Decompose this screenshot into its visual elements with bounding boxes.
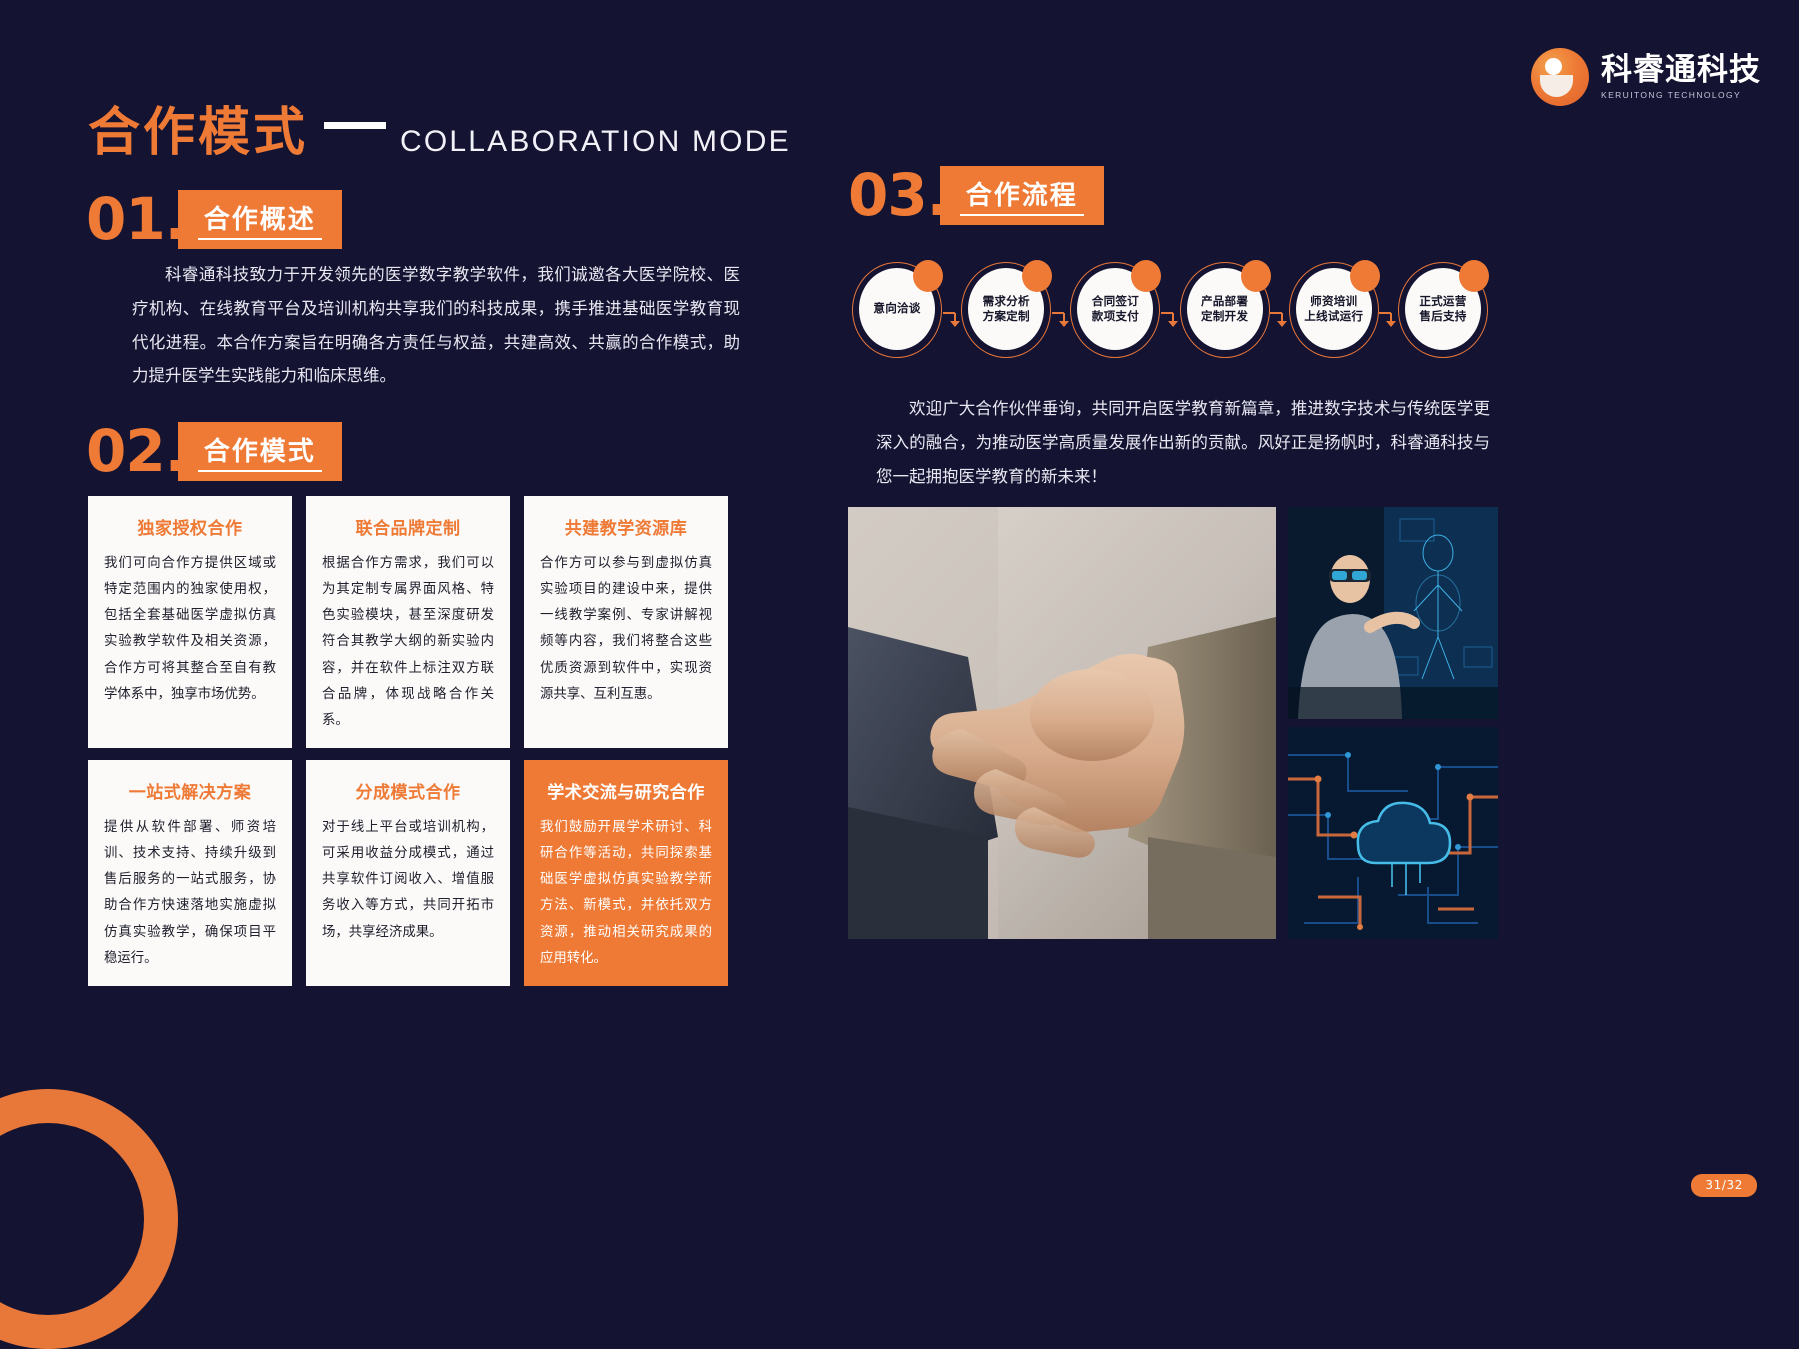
- ar-medical-photo: [1288, 507, 1498, 719]
- mode-card-body: 对于线上平台或培训机构，可采用收益分成模式，通过共享软件订阅收入、增值服务收入等…: [322, 815, 494, 946]
- brand-logo: 科睿通科技 KERUITONG TECHNOLOGY: [1531, 48, 1761, 106]
- mode-card: 分成模式合作对于线上平台或培训机构，可采用收益分成模式，通过共享软件订阅收入、增…: [306, 760, 510, 986]
- mode-card-body: 我们可向合作方提供区域或特定范围内的独家使用权，包括全套基础医学虚拟仿真实验教学…: [104, 551, 276, 708]
- mode-card-body: 根据合作方需求，我们可以为其定制专属界面风格、特色实验模块，甚至深度研发符合其教…: [322, 551, 494, 734]
- page-number-badge: 31/32: [1691, 1174, 1757, 1197]
- section-heading-01: 01. 合作概述: [86, 190, 342, 249]
- flow-step: 师资培训上线试运行: [1287, 258, 1381, 362]
- keruitong-logo-icon: [1531, 48, 1589, 106]
- intro-paragraph: 科睿通科技致力于开发领先的医学数字教学软件，我们诚邀各大医学院校、医疗机构、在线…: [132, 258, 740, 393]
- flow-step: 意向洽谈: [850, 258, 944, 362]
- section-heading-02: 02. 合作模式: [86, 422, 342, 481]
- mode-card-title: 学术交流与研究合作: [540, 778, 712, 803]
- collaboration-flow-diagram: 意向洽谈需求分析方案定制合同签订款项支付产品部署定制开发师资培训上线试运行正式运…: [850, 255, 1490, 365]
- decorative-corner-arc: [0, 1089, 178, 1349]
- title-divider-dash: [324, 122, 386, 129]
- flow-step-label-2: 售后支持: [1419, 309, 1466, 324]
- page-title-en: COLLABORATION MODE: [400, 127, 791, 159]
- flow-step-dot: [1350, 260, 1380, 292]
- section-number-01: 01.: [86, 193, 186, 246]
- section-number-03: 03.: [848, 169, 948, 222]
- mode-card-title: 独家授权合作: [104, 514, 276, 539]
- collaboration-mode-card-grid: 独家授权合作我们可向合作方提供区域或特定范围内的独家使用权，包括全套基础医学虚拟…: [88, 496, 728, 986]
- mode-card-title: 联合品牌定制: [322, 514, 494, 539]
- mode-card-body: 提供从软件部署、师资培训、技术支持、持续升级到售后服务的一站式服务，协助合作方快…: [104, 815, 276, 972]
- flow-step-dot: [1459, 260, 1489, 292]
- flow-step-label-1: 师资培训: [1310, 294, 1357, 309]
- flow-step-label-1: 合同签订: [1092, 294, 1139, 309]
- mode-card: 联合品牌定制根据合作方需求，我们可以为其定制专属界面风格、特色实验模块，甚至深度…: [306, 496, 510, 748]
- mode-card-body: 我们鼓励开展学术研讨、科研合作等活动，共同探索基础医学虚拟仿真实验教学新方法、新…: [540, 815, 712, 972]
- section-badge-03: 合作流程: [940, 166, 1104, 225]
- flow-step-label-1: 正式运营: [1419, 294, 1466, 309]
- page-title-cn: 合作模式: [88, 107, 308, 159]
- handshake-photo: [848, 507, 1276, 939]
- section-badge-02: 合作模式: [178, 422, 342, 481]
- mode-card: 学术交流与研究合作我们鼓励开展学术研讨、科研合作等活动，共同探索基础医学虚拟仿真…: [524, 760, 728, 986]
- flow-step-label-2: 定制开发: [1201, 309, 1248, 324]
- flow-step-dot: [913, 260, 943, 292]
- circuit-cloud-photo: [1288, 727, 1498, 939]
- mode-card-title: 分成模式合作: [322, 778, 494, 803]
- mode-card: 一站式解决方案提供从软件部署、师资培训、技术支持、持续升级到售后服务的一站式服务…: [88, 760, 292, 986]
- flow-step-label-1: 需求分析: [983, 294, 1030, 309]
- flow-step-label-1: 意向洽谈: [873, 301, 920, 316]
- mode-card-title: 共建教学资源库: [540, 514, 712, 539]
- page-title: 合作模式 COLLABORATION MODE: [88, 107, 791, 159]
- flow-step-dot: [1131, 260, 1161, 292]
- flow-step: 需求分析方案定制: [959, 258, 1053, 362]
- section-number-02: 02.: [86, 425, 186, 478]
- mode-card-title: 一站式解决方案: [104, 778, 276, 803]
- flow-step: 正式运营售后支持: [1396, 258, 1490, 362]
- mode-card: 共建教学资源库合作方可以参与到虚拟仿真实验项目的建设中来，提供一线教学案例、专家…: [524, 496, 728, 748]
- flow-step-label-2: 方案定制: [983, 309, 1030, 324]
- section-heading-03: 03. 合作流程: [848, 166, 1104, 225]
- flow-step-label-2: 上线试运行: [1304, 309, 1363, 324]
- brand-name-cn: 科睿通科技: [1601, 54, 1761, 87]
- flow-step-dot: [1241, 260, 1271, 292]
- flow-step-label-1: 产品部署: [1201, 294, 1248, 309]
- flow-step-label-2: 款项支付: [1092, 309, 1139, 324]
- section-badge-01: 合作概述: [178, 190, 342, 249]
- brand-name-en: KERUITONG TECHNOLOGY: [1601, 90, 1761, 100]
- flow-step: 产品部署定制开发: [1178, 258, 1272, 362]
- mode-card-body: 合作方可以参与到虚拟仿真实验项目的建设中来，提供一线教学案例、专家讲解视频等内容…: [540, 551, 712, 708]
- flow-step-dot: [1022, 260, 1052, 292]
- mode-card: 独家授权合作我们可向合作方提供区域或特定范围内的独家使用权，包括全套基础医学虚拟…: [88, 496, 292, 748]
- flow-step: 合同签订款项支付: [1068, 258, 1162, 362]
- closing-paragraph: 欢迎广大合作伙伴垂询，共同开启医学教育新篇章，推进数字技术与传统医学更深入的融合…: [876, 392, 1490, 493]
